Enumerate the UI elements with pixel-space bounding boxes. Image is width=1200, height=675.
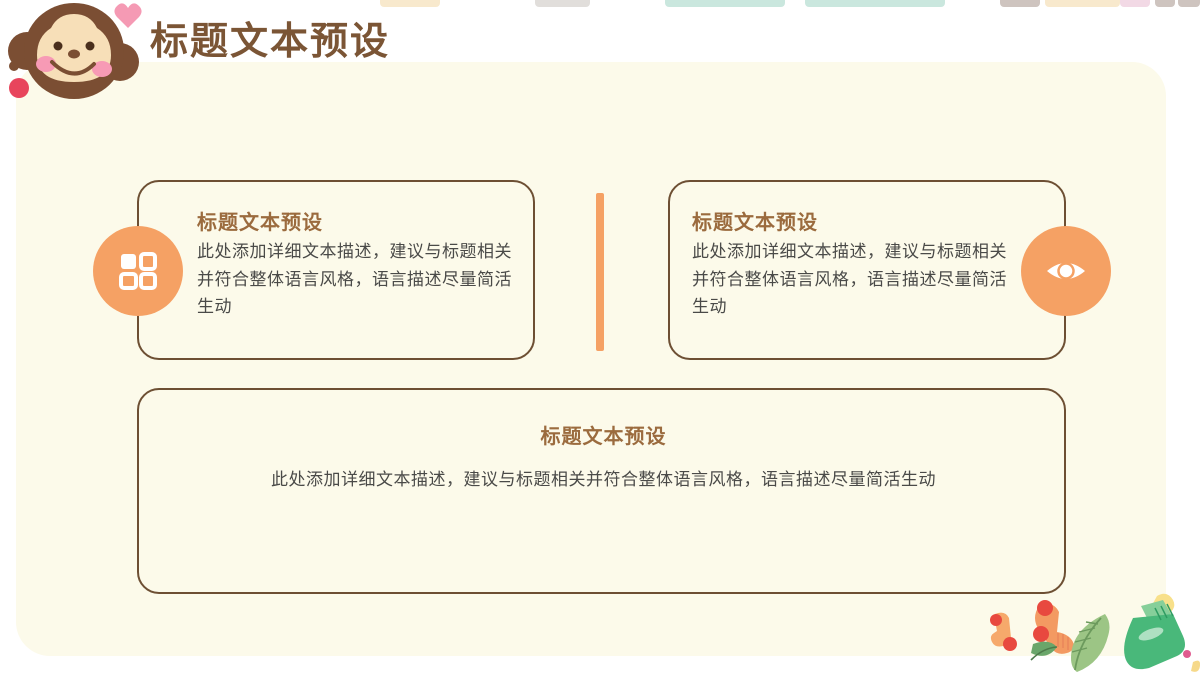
card-left[interactable]: 标题文本预设 此处添加详细文本描述，建议与标题相关并符合整体语言风格，语言描述尽… [137,180,535,360]
card-right[interactable]: 标题文本预设 此处添加详细文本描述，建议与标题相关并符合整体语言风格，语言描述尽… [668,180,1066,360]
top-decoration-strip [0,0,1200,7]
top-chip [805,0,945,7]
dot-pink-icon [1183,650,1191,658]
top-chip [1045,0,1120,7]
monkey-mascot-icon [2,0,152,116]
top-chip [535,0,590,7]
top-chip [1000,0,1040,7]
card-left-body: 此处添加详细文本描述，建议与标题相关并符合整体语言风格，语言描述尽量简活生动 [197,238,517,321]
top-chip [665,0,785,7]
grid-squares-icon [118,251,158,291]
card-right-body: 此处添加详细文本描述，建议与标题相关并符合整体语言风格，语言描述尽量简活生动 [692,238,1012,321]
top-chip [1178,0,1200,7]
page-title: 标题文本预设 [150,20,390,66]
vertical-divider [596,193,604,351]
top-chip [380,0,440,7]
petal-yellow-icon [1191,661,1200,672]
top-chip [1120,0,1150,7]
card-bottom-body: 此处添加详细文本描述，建议与标题相关并符合整体语言风格，语言描述尽量简活生动 [139,466,1068,494]
top-chip [1155,0,1175,7]
eye-icon-circle[interactable] [1021,226,1111,316]
grid-squares-icon-circle[interactable] [93,226,183,316]
card-right-title: 标题文本预设 [692,206,818,235]
eye-icon [1043,248,1089,294]
card-bottom-title: 标题文本预设 [139,420,1068,449]
card-bottom[interactable]: 标题文本预设 此处添加详细文本描述，建议与标题相关并符合整体语言风格，语言描述尽… [137,388,1066,594]
slide-canvas: 标题文本预设 标题文本预设 此处添加详细文本描述，建议与标题相关并符合整体语言风… [0,0,1200,675]
card-left-title: 标题文本预设 [197,206,323,235]
